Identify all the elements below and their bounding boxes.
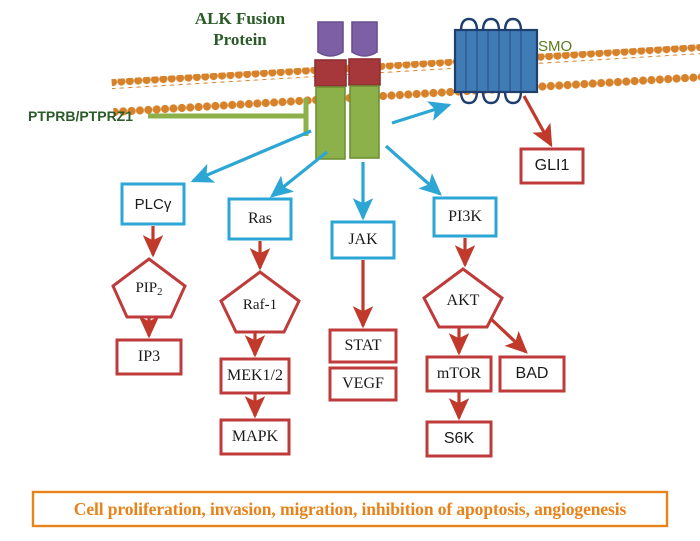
smo-label: SMO (538, 38, 572, 55)
edge-akt-bad (490, 318, 526, 352)
pathway-diagram: ALK Fusion Protein SMO PTPRB/PTPRZ1 Cell… (0, 0, 700, 541)
node-vegf (330, 368, 396, 400)
node-plcg (122, 184, 184, 224)
alk-transmembrane-right (349, 59, 380, 85)
alk-ectodomain-right (352, 22, 377, 56)
node-stat (330, 330, 396, 362)
alk-monomer-right (349, 22, 380, 158)
edge-receptor-pi3k (386, 146, 440, 194)
node-ras (229, 199, 291, 239)
alk-kinase-domain-left (316, 87, 345, 159)
node-bad (500, 357, 564, 391)
node-jak (332, 222, 394, 258)
diagram-canvas (0, 0, 700, 541)
edge-receptor-smo (392, 105, 449, 123)
alk-ectodomain-left (318, 22, 343, 56)
alk-kinase-domain-right (350, 86, 379, 158)
node-ip3 (117, 340, 181, 374)
node-raf1 (221, 272, 299, 332)
node-pip2 (113, 259, 185, 317)
pentagon-nodes (113, 259, 502, 332)
alk-monomer-left (315, 22, 346, 159)
node-mapk (221, 420, 289, 454)
blue-nodes (122, 184, 496, 258)
smo-receptor (455, 19, 537, 103)
node-s6k (427, 422, 491, 456)
alk-transmembrane-left (315, 60, 346, 86)
node-pi3k (434, 198, 496, 236)
plasma-membrane (111, 44, 700, 117)
outcome-banner-text: Cell proliferation, invasion, migration,… (33, 492, 667, 526)
node-gli1 (521, 149, 583, 183)
smo-body (455, 30, 537, 92)
red-nodes (117, 149, 583, 456)
node-mtor (427, 357, 491, 391)
node-mek (221, 359, 289, 393)
node-akt (424, 269, 502, 327)
edge-receptor-ras (272, 152, 327, 196)
ptprb-ptprz1-label: PTPRB/PTPRZ1 (28, 108, 133, 124)
alk-fusion-protein-title: ALK Fusion Protein (180, 8, 300, 50)
edge-receptor-plcg (193, 131, 311, 181)
edge-smo-gli1 (524, 96, 551, 145)
